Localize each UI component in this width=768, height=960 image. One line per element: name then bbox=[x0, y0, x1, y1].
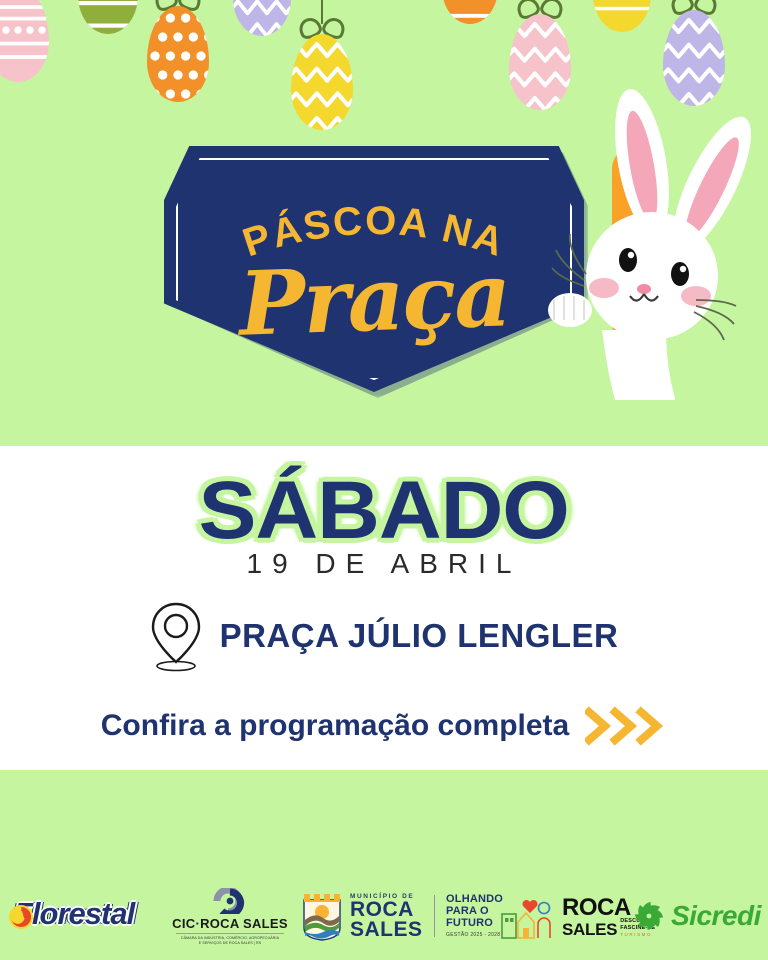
bunny-eye-right bbox=[671, 262, 689, 286]
sponsor-florestal[interactable]: Florestal bbox=[8, 896, 134, 932]
cic-divider bbox=[176, 933, 284, 934]
coat-of-arms-icon bbox=[300, 890, 344, 942]
bunny-head bbox=[586, 212, 718, 340]
chevrons-right-icon[interactable] bbox=[585, 706, 667, 746]
egg-shape bbox=[147, 6, 209, 102]
sicredi-label: Sicredi bbox=[671, 900, 761, 932]
easter-event-poster: PÁSCOA NA Praça bbox=[0, 0, 768, 960]
florestal-flame-icon bbox=[8, 904, 34, 930]
cta-row[interactable]: Confira a programação completa bbox=[0, 706, 768, 746]
municipio-name-2: SALES bbox=[350, 920, 423, 939]
city-illustration-icon bbox=[500, 892, 558, 942]
egg-shape bbox=[593, 0, 651, 32]
badge-script-text: Praça bbox=[163, 248, 586, 351]
event-day: SÁBADO bbox=[199, 472, 569, 551]
bunny-cheek-right bbox=[681, 286, 711, 306]
bunny-cheek-left bbox=[589, 278, 619, 298]
bunny-body bbox=[602, 330, 684, 400]
turismo-name-2: SALES bbox=[562, 922, 617, 937]
turismo-word: TURISMO bbox=[620, 932, 658, 937]
egg-shape bbox=[442, 0, 498, 24]
bunny-eye-left bbox=[619, 248, 637, 272]
egg-shape bbox=[233, 0, 291, 36]
venue-name: PRAÇA JÚLIO LENGLER bbox=[220, 617, 619, 655]
cic-subtitle-line2: E SERVIÇOS DE ROCA SALES | RS bbox=[170, 941, 290, 946]
municipio-divider bbox=[434, 895, 436, 937]
event-date: 19 DE ABRIL bbox=[0, 548, 768, 580]
sponsor-cic[interactable]: CIC·ROCA SALES CÂMARA DA INDÚSTRIA, COMÉ… bbox=[170, 888, 290, 947]
easter-bunny bbox=[524, 84, 768, 400]
egg-shape bbox=[291, 34, 353, 130]
egg-shape bbox=[0, 0, 49, 82]
venue-row: PRAÇA JÚLIO LENGLER bbox=[0, 600, 768, 672]
municipio-name-1: ROCA bbox=[350, 900, 423, 919]
bunny-nose bbox=[637, 284, 651, 294]
cic-emblem-icon bbox=[205, 888, 255, 914]
sponsor-sicredi[interactable]: Sicredi bbox=[634, 900, 761, 932]
municipio-slogan-3: FUTURO bbox=[446, 918, 503, 930]
event-day-wrap: SÁBADO bbox=[0, 472, 768, 551]
bunny-paws bbox=[548, 293, 596, 400]
cic-label: CIC·ROCA SALES bbox=[170, 916, 290, 931]
sponsor-municipio[interactable]: MUNICÍPIO DE ROCA SALES OLHANDO PARA O F… bbox=[300, 890, 503, 942]
cta-text: Confira a programação completa bbox=[101, 709, 569, 743]
municipio-gestao: GESTÃO 2025 - 2028 bbox=[446, 932, 503, 938]
map-pin-icon bbox=[150, 600, 202, 672]
sicredi-pinwheel-icon bbox=[634, 901, 664, 931]
egg-shape bbox=[78, 0, 138, 34]
